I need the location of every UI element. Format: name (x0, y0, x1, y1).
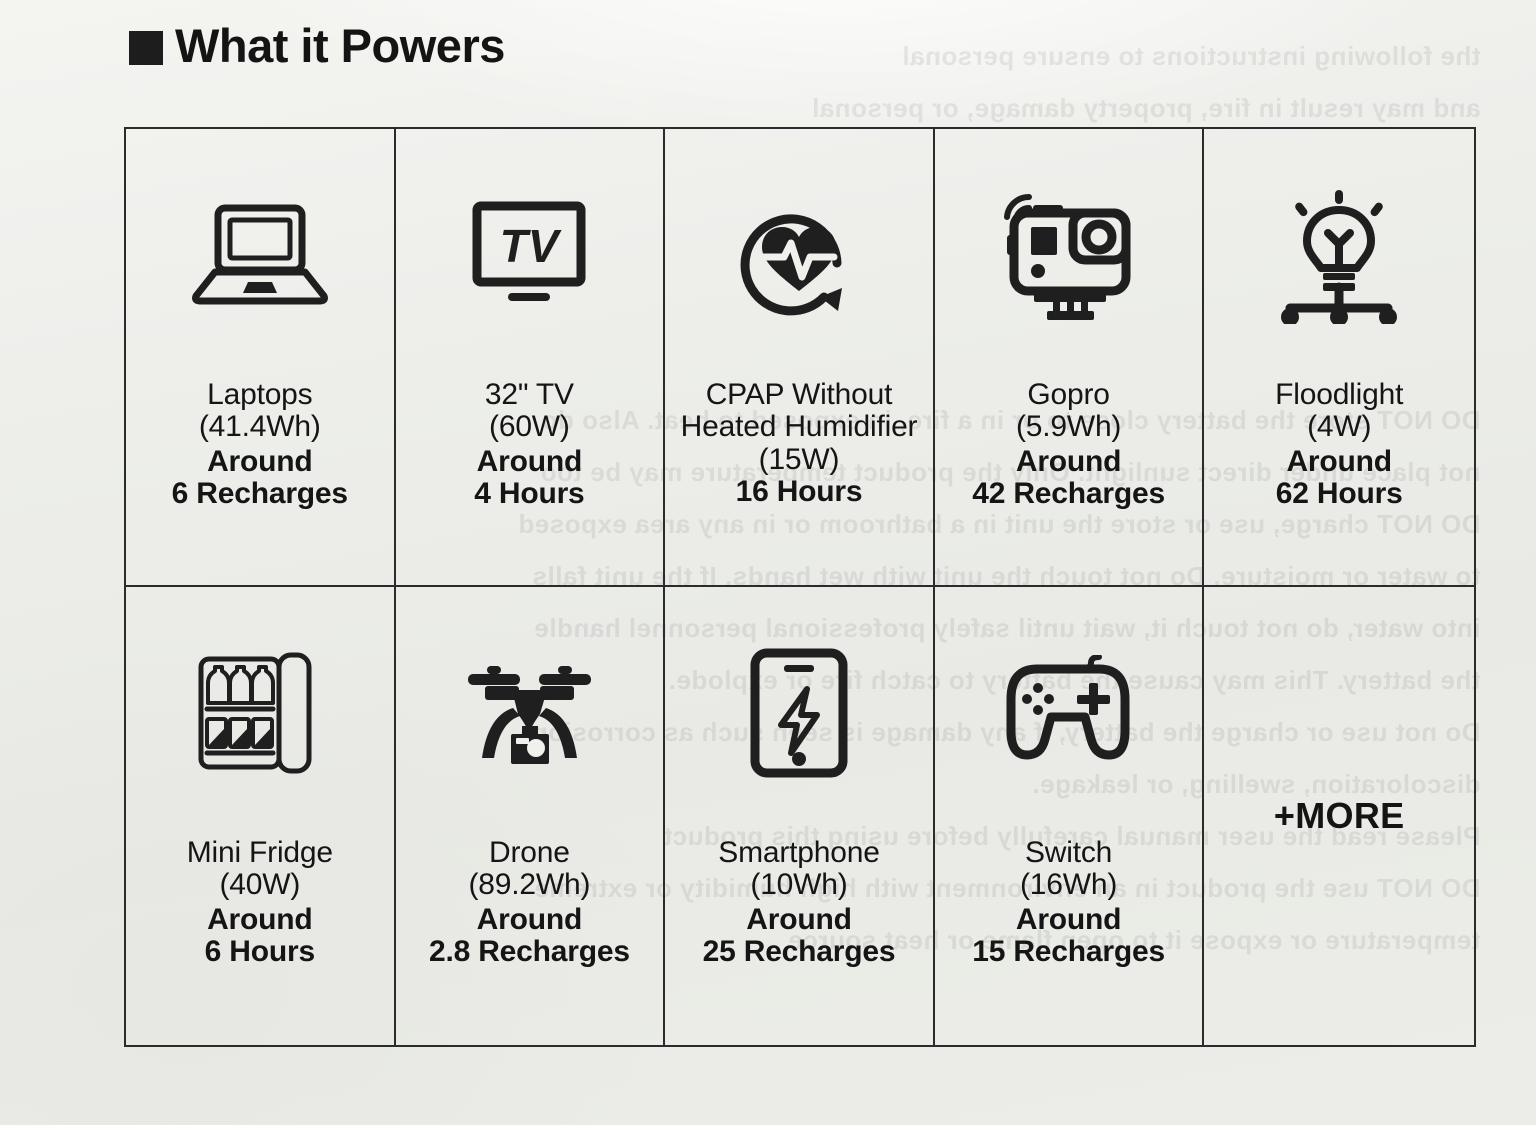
device-duration: 25 Recharges (703, 936, 896, 968)
grid-cell-tv[interactable]: TV 32" TV (60W) Around 4 Hours (396, 129, 666, 587)
device-name-line2: Heated Humidifier (681, 411, 918, 443)
drone-labels: Drone (89.2Wh) Around 2.8 Recharges (429, 837, 630, 969)
device-power: (89.2Wh) (429, 869, 630, 901)
laptops-labels: Laptops (41.4Wh) Around 6 Recharges (172, 379, 348, 511)
switch-labels: Switch (16Wh) Around 15 Recharges (972, 837, 1165, 969)
device-name: Drone (429, 837, 630, 869)
grid-cell-mini-fridge[interactable]: Mini Fridge (40W) Around 6 Hours (126, 587, 396, 1045)
tv-icon: TV (402, 129, 658, 379)
smartphone-charging-icon (671, 587, 927, 837)
drone-icon (402, 587, 658, 837)
around-label: Around (474, 446, 584, 478)
laptop-icon (132, 129, 388, 379)
grid-cell-gopro[interactable]: Gopro (5.9Wh) Around 42 Recharges (935, 129, 1205, 587)
device-power: (4W) (1275, 411, 1403, 443)
device-name: Laptops (172, 379, 348, 411)
device-duration: 42 Recharges (972, 478, 1165, 510)
grid-cell-drone[interactable]: Drone (89.2Wh) Around 2.8 Recharges (396, 587, 666, 1045)
around-label: Around (972, 904, 1165, 936)
device-name: CPAP Without (681, 379, 918, 411)
device-power: (41.4Wh) (172, 411, 348, 443)
device-power: (60W) (474, 411, 584, 443)
gopro-action-camera-icon (941, 129, 1197, 379)
page-title-text: What it Powers (175, 22, 505, 69)
svg-text:TV: TV (500, 220, 562, 272)
device-name: Switch (972, 837, 1165, 869)
cpap-labels: CPAP Without Heated Humidifier (15W) 16 … (681, 379, 918, 509)
around-label: Around (703, 904, 896, 936)
grid-cell-switch[interactable]: Switch (16Wh) Around 15 Recharges (935, 587, 1205, 1045)
device-name: Mini Fridge (187, 837, 333, 869)
device-power: (10Wh) (703, 869, 896, 901)
gopro-labels: Gopro (5.9Wh) Around 42 Recharges (972, 379, 1165, 511)
around-label: Around (172, 446, 348, 478)
around-label: Around (187, 904, 333, 936)
device-duration: 2.8 Recharges (429, 936, 630, 968)
grid-cell-cpap[interactable]: CPAP Without Heated Humidifier (15W) 16 … (665, 129, 935, 587)
around-label: Around (429, 904, 630, 936)
more-label: +MORE (1274, 795, 1405, 837)
cpap-heart-pulse-icon (671, 129, 927, 379)
grid-cell-more[interactable]: +MORE (1204, 587, 1474, 1045)
device-duration: 15 Recharges (972, 936, 1165, 968)
what-it-powers-grid: Laptops (41.4Wh) Around 6 Recharges TV 3… (124, 127, 1476, 1047)
device-duration: 16 Hours (681, 476, 918, 508)
device-power: (5.9Wh) (972, 411, 1165, 443)
page-title: What it Powers (129, 22, 505, 69)
mini-fridge-labels: Mini Fridge (40W) Around 6 Hours (187, 837, 333, 969)
device-name: 32" TV (474, 379, 584, 411)
device-power: (16Wh) (972, 869, 1165, 901)
around-label: Around (1275, 446, 1403, 478)
grid-cell-floodlight[interactable]: Floodlight (4W) Around 62 Hours (1204, 129, 1474, 587)
game-controller-icon (941, 587, 1197, 837)
filled-square-bullet-icon (129, 31, 163, 65)
device-power: (15W) (681, 444, 918, 476)
grid-cell-smartphone[interactable]: Smartphone (10Wh) Around 25 Recharges (665, 587, 935, 1045)
device-duration: 6 Recharges (172, 478, 348, 510)
device-power: (40W) (187, 869, 333, 901)
grid-cell-laptops[interactable]: Laptops (41.4Wh) Around 6 Recharges (126, 129, 396, 587)
device-duration: 62 Hours (1275, 478, 1403, 510)
device-name: Gopro (972, 379, 1165, 411)
device-duration: 6 Hours (187, 936, 333, 968)
tv-labels: 32" TV (60W) Around 4 Hours (474, 379, 584, 511)
floodlight-bulb-icon (1210, 129, 1468, 379)
device-duration: 4 Hours (474, 478, 584, 510)
around-label: Around (972, 446, 1165, 478)
smartphone-labels: Smartphone (10Wh) Around 25 Recharges (703, 837, 896, 969)
device-name: Floodlight (1275, 379, 1403, 411)
floodlight-labels: Floodlight (4W) Around 62 Hours (1275, 379, 1403, 511)
device-name: Smartphone (703, 837, 896, 869)
mini-fridge-icon (132, 587, 388, 837)
